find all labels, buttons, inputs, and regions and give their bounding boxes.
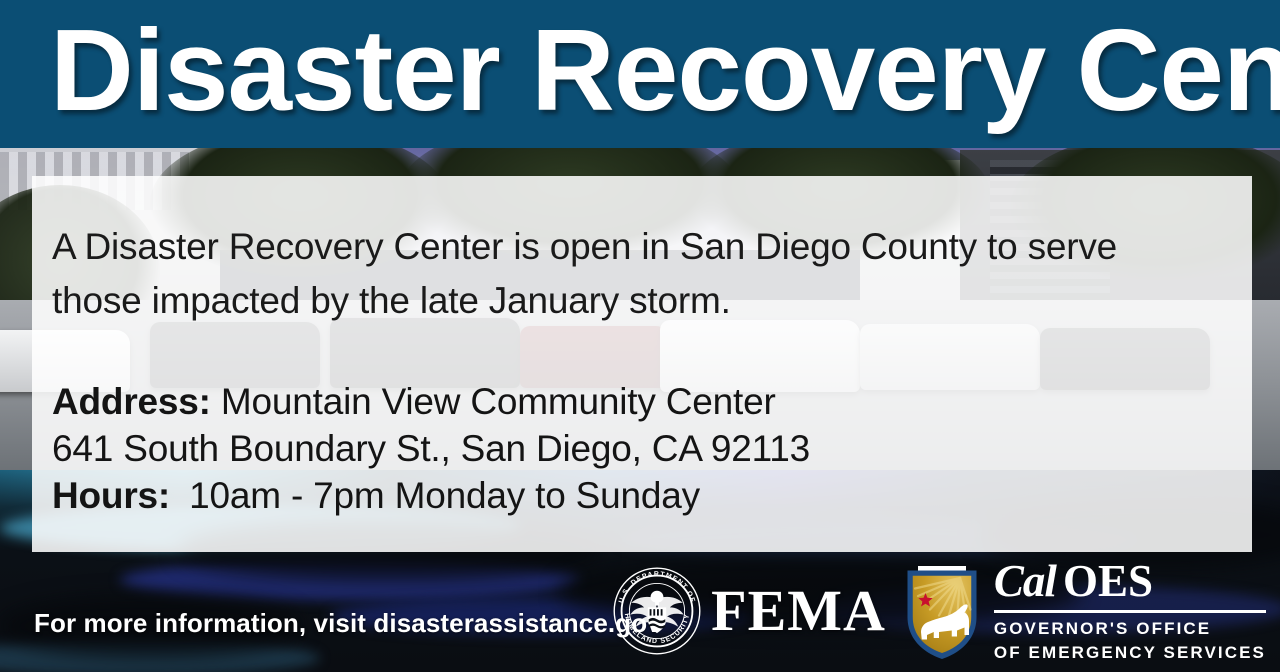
- details-block: Address: Mountain View Community Center …: [52, 379, 1252, 520]
- fema-wordmark: FEMA: [711, 582, 886, 640]
- address-line-street: 641 South Boundary St., San Diego, CA 92…: [52, 426, 1252, 473]
- hours-label: Hours:: [52, 475, 170, 516]
- page-title: Disaster Recovery Center: [50, 0, 1240, 144]
- address-label: Address:: [52, 381, 211, 422]
- header-band: Disaster Recovery Center: [0, 0, 1280, 148]
- disaster-recovery-center-flyer: Disaster Recovery Center A Disaster Reco…: [0, 0, 1280, 672]
- intro-paragraph: A Disaster Recovery Center is open in Sa…: [52, 220, 1182, 327]
- cal-oes-subtitle-line-2: OF EMERGENCY SERVICES: [994, 643, 1266, 663]
- oes-word: OES: [1063, 556, 1153, 606]
- cal-word: Cal: [994, 556, 1056, 606]
- address-street: 641 South Boundary St., San Diego, CA 92…: [52, 428, 810, 469]
- hours-line: Hours: 10am - 7pm Monday to Sunday: [52, 473, 1252, 520]
- address-venue: Mountain View Community Center: [221, 381, 776, 422]
- cal-oes-wordmark: CalOES GOVERNOR'S OFFICE OF EMERGENCY SE…: [994, 559, 1266, 662]
- info-panel: A Disaster Recovery Center is open in Sa…: [32, 176, 1252, 552]
- cal-oes-divider: [994, 610, 1266, 613]
- hours-value: 10am - 7pm Monday to Sunday: [189, 475, 700, 516]
- address-line-venue: Address: Mountain View Community Center: [52, 379, 1252, 426]
- cal-oes-subtitle-line-1: GOVERNOR'S OFFICE: [994, 619, 1266, 639]
- fema-logo: U.S. DEPARTMENT OF HOMELAND SECURITY: [611, 565, 886, 657]
- agency-logo-row: U.S. DEPARTMENT OF HOMELAND SECURITY: [611, 556, 1266, 666]
- dhs-seal-icon: U.S. DEPARTMENT OF HOMELAND SECURITY: [611, 565, 703, 657]
- california-bear-shield-icon: [904, 563, 980, 659]
- cal-oes-logo: CalOES GOVERNOR'S OFFICE OF EMERGENCY SE…: [904, 559, 1266, 662]
- more-information-note: For more information, visit disasterassi…: [34, 608, 662, 639]
- cal-oes-title: CalOES: [994, 559, 1266, 604]
